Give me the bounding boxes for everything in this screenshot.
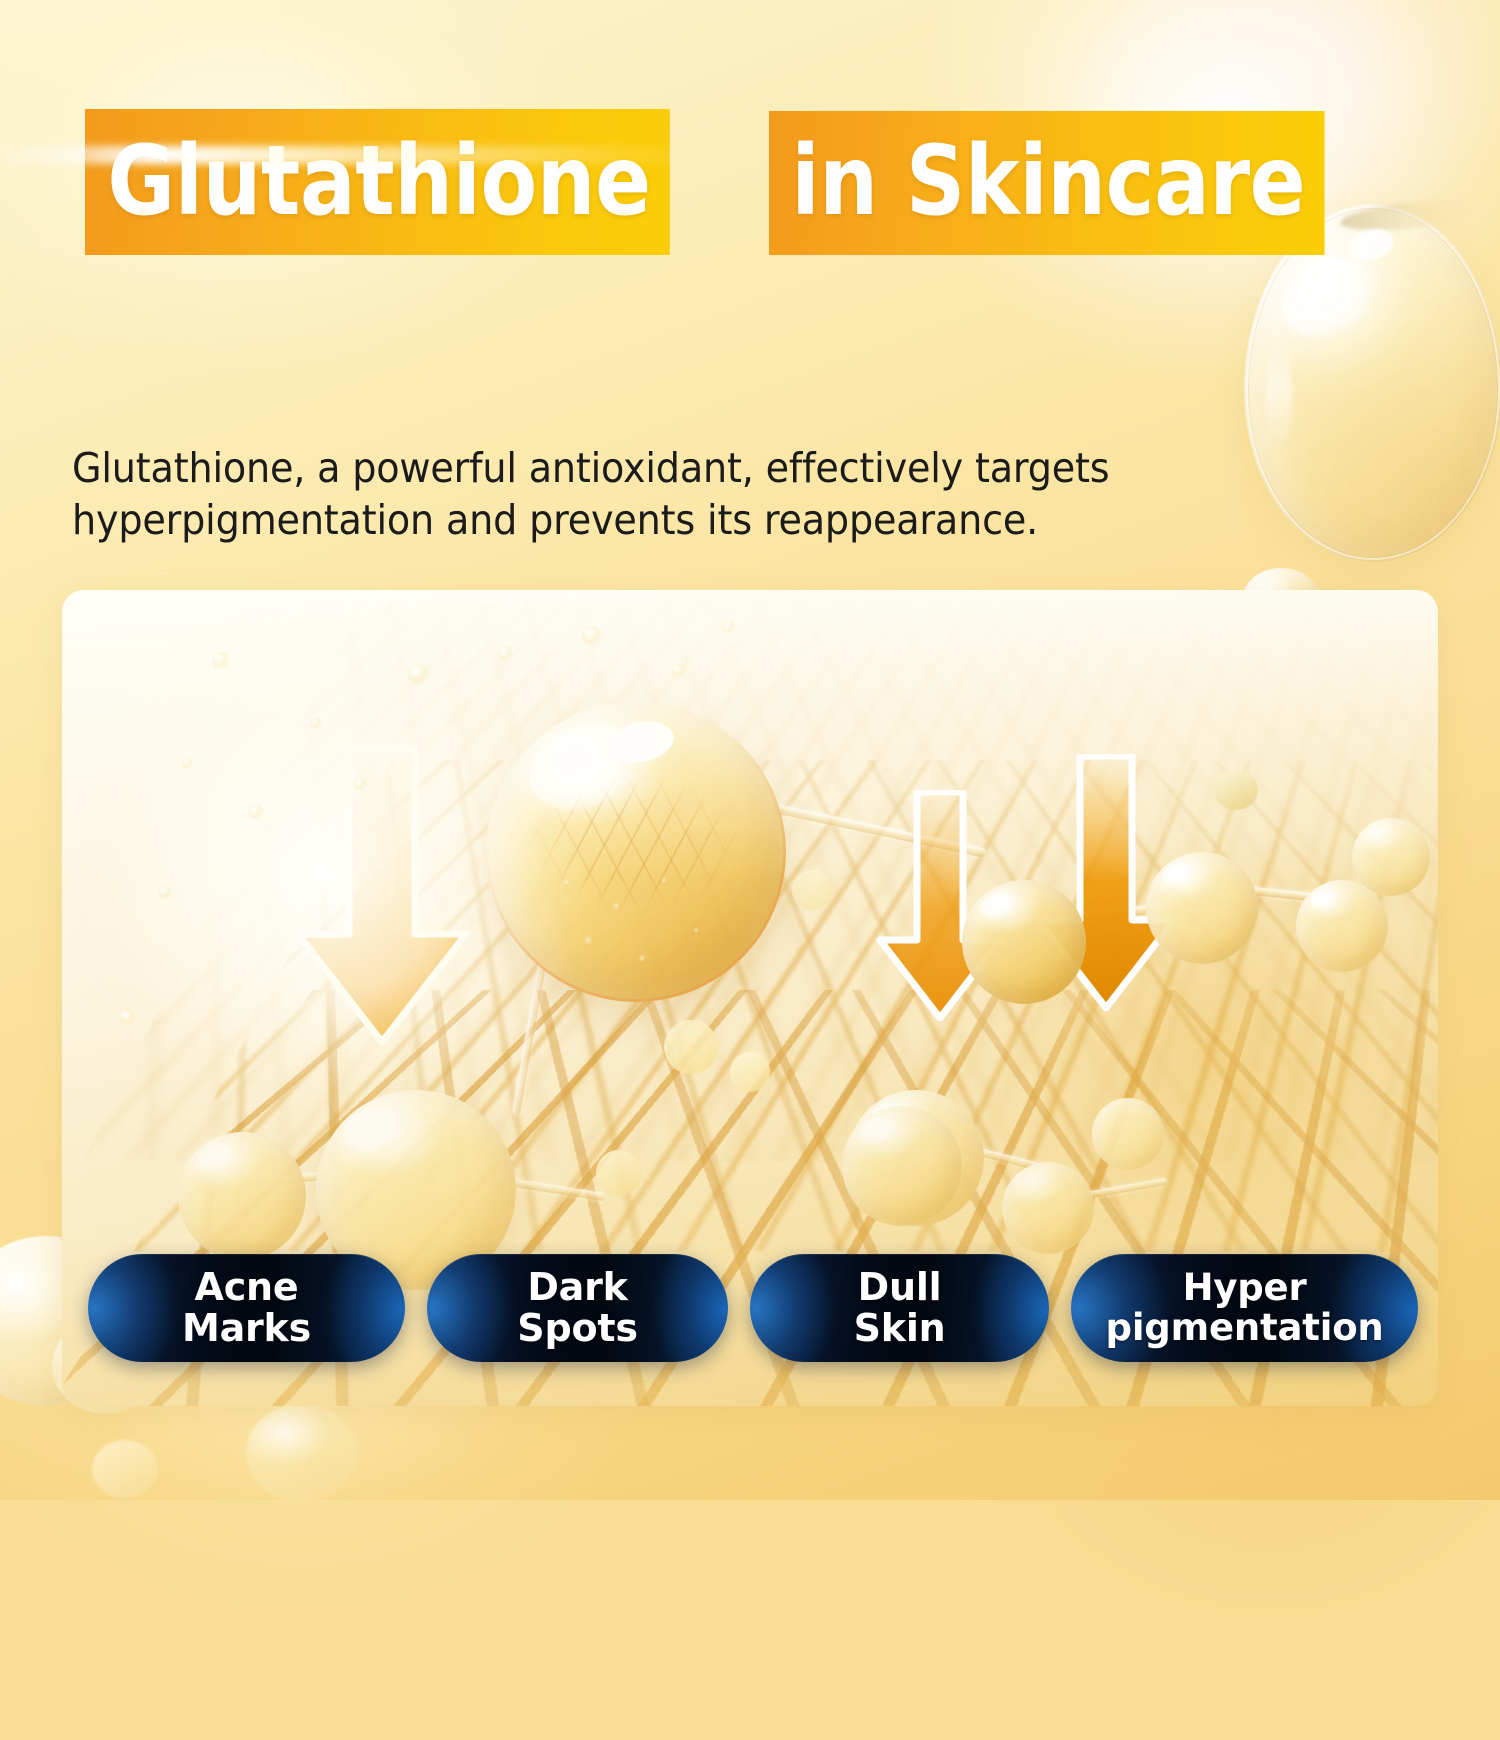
molecule-sphere-icon-primary: [486, 702, 786, 1002]
molecule-bond-1: [769, 803, 986, 858]
illustration-fleck: [722, 620, 736, 634]
illustration-fleck: [672, 664, 686, 678]
down-arrow-icon-3: [1034, 754, 1178, 1012]
molecule-bond-7: [512, 907, 556, 1115]
illustration-fleck: [212, 652, 230, 670]
molecule-sphere-icon-bl2: [178, 1132, 306, 1260]
molecule-sphere-icon-r1: [1146, 852, 1258, 964]
molecule-sphere-icon-c1: [848, 1090, 984, 1226]
illustration-amber-wash: [898, 770, 1438, 1330]
molecule-sphere-icon-small-c: [596, 1150, 642, 1196]
molecule-sphere-icon-small-d: [792, 870, 832, 910]
badge-dull-skin[interactable]: Dull Skin: [750, 1254, 1049, 1362]
molecule-sphere-icon-small-e: [1214, 770, 1258, 810]
molecule-sphere-icon-bot1: [842, 1106, 962, 1226]
molecule-sphere-icon-c2: [962, 880, 1086, 1004]
illustration-fleck: [408, 664, 430, 686]
down-arrow-icon-1: [294, 746, 470, 1046]
illustration-image: Acne Marks Dark Spots Dull Skin Hyper pi…: [62, 590, 1438, 1406]
benefit-badge-row: Acne Marks Dark Spots Dull Skin Hyper pi…: [88, 1254, 1418, 1362]
illustration-fleck: [120, 1010, 136, 1026]
illustration-fleck: [310, 718, 322, 730]
molecule-sphere-icon-bot3: [1092, 1098, 1164, 1170]
page-title-line-2: in Skincare: [769, 111, 1324, 255]
page-title: Glutathione in Skincare: [85, 100, 1415, 255]
illustration-fleck: [248, 804, 264, 820]
badge-hyperpigmentation[interactable]: Hyper pigmentation: [1071, 1254, 1418, 1362]
lattice-layer-mid: [133, 760, 1438, 1252]
molecule-bond-8: [1072, 1178, 1168, 1202]
molecule-sphere-icon-small-b: [730, 1052, 770, 1092]
molecule-bond-5: [486, 1175, 606, 1202]
illustration-panel: Acne Marks Dark Spots Dull Skin Hyper pi…: [62, 590, 1438, 1406]
molecule-sphere-icon-r2: [1296, 880, 1388, 972]
molecule-sphere-icon-bot2: [1002, 1162, 1094, 1254]
badge-acne-marks[interactable]: Acne Marks: [88, 1254, 405, 1362]
illustration-fleck: [498, 646, 514, 662]
molecule-sphere-icon-r3: [1352, 818, 1430, 896]
lattice-layer-far: [82, 600, 1438, 1162]
molecule-bond-2: [1062, 902, 1182, 923]
illustration-fleck: [158, 886, 172, 900]
page-title-line-1: Glutathione: [85, 109, 670, 255]
badge-dark-spots[interactable]: Dark Spots: [427, 1254, 728, 1362]
molecule-sphere-icon-small-a: [664, 1020, 718, 1074]
illustration-haze-top: [62, 590, 1438, 880]
illustration-fleck: [582, 626, 602, 646]
molecule-bond-4: [248, 1169, 358, 1187]
illustration-fleck: [182, 758, 193, 769]
subtitle-text: Glutathione, a powerful antioxidant, eff…: [72, 443, 1216, 546]
molecule-bond-6: [941, 1139, 1050, 1173]
down-arrow-icon-2: [876, 790, 1004, 1022]
illustration-fleck: [354, 778, 367, 791]
molecule-bond-3: [1236, 885, 1326, 902]
illustration-haze-left: [62, 590, 642, 1190]
